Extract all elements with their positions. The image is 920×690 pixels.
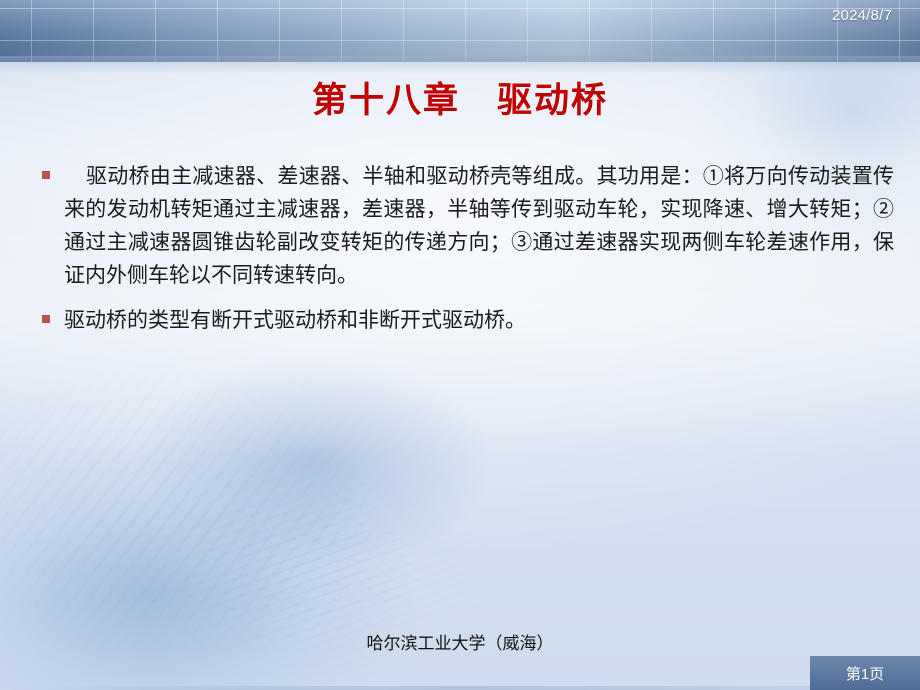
- slide-date: 2024/8/7: [832, 7, 892, 24]
- bullet-text: 驱动桥由主减速器、差速器、半轴和驱动桥壳等组成。其功用是：①将万向传动装置传来的…: [64, 160, 894, 292]
- bullet-marker-icon: [42, 171, 50, 179]
- bullet-item: 驱动桥的类型有断开式驱动桥和非断开式驱动桥。: [38, 304, 894, 337]
- bullet-item: 驱动桥由主减速器、差速器、半轴和驱动桥壳等组成。其功用是：①将万向传动装置传来的…: [38, 160, 894, 292]
- page-number-badge: 第1页: [810, 656, 920, 690]
- slide-title: 第十八章 驱动桥: [0, 72, 920, 123]
- bullet-marker-icon: [42, 315, 50, 323]
- footer-school-name: 哈尔滨工业大学（威海）: [0, 629, 920, 654]
- slide-body: 驱动桥由主减速器、差速器、半轴和驱动桥壳等组成。其功用是：①将万向传动装置传来的…: [38, 160, 894, 349]
- brick-shading: [0, 0, 920, 62]
- footer-divider: [0, 686, 920, 690]
- header-brick-band: [0, 0, 920, 62]
- presentation-slide: 2024/8/7 第十八章 驱动桥 驱动桥由主减速器、差速器、半轴和驱动桥壳等组…: [0, 0, 920, 690]
- bullet-text: 驱动桥的类型有断开式驱动桥和非断开式驱动桥。: [64, 304, 894, 337]
